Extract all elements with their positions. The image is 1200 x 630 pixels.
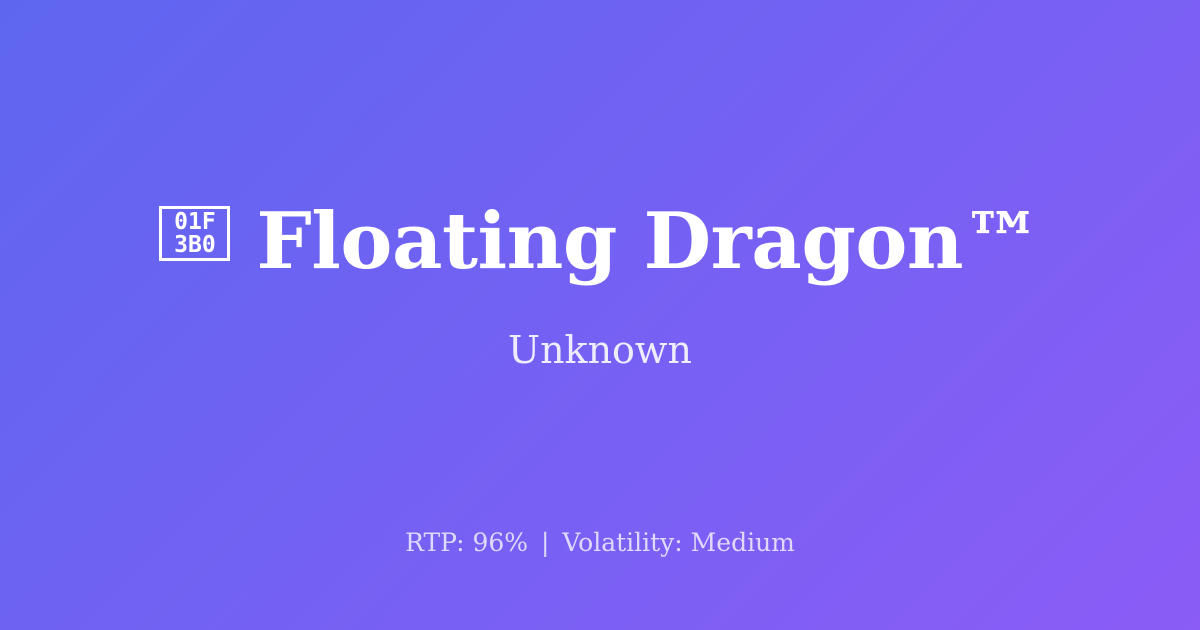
page-title: Floating Dragon™ xyxy=(256,203,1040,281)
provider-subtitle: Unknown xyxy=(508,331,692,369)
stats-separator: | xyxy=(536,528,554,557)
rtp-value: RTP: 96% xyxy=(405,528,528,557)
game-stats-line: RTP: 96% | Volatility: Medium xyxy=(0,528,1200,558)
slot-machine-icon: 01F 3B0 xyxy=(159,206,230,261)
volatility-value: Volatility: Medium xyxy=(562,528,794,557)
slot-machine-icon-codepoint-top: 01F xyxy=(174,211,216,234)
title-row: 01F 3B0 Floating Dragon™ xyxy=(159,203,1040,281)
slot-machine-icon-codepoint-bottom: 3B0 xyxy=(174,234,216,257)
